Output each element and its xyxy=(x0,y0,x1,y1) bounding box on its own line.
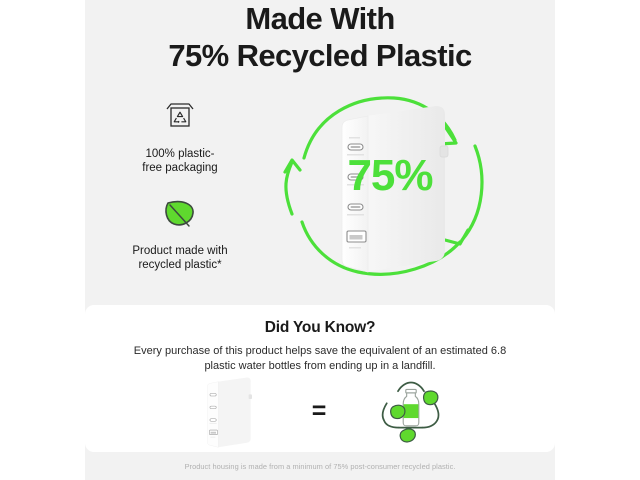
leaf-icon xyxy=(110,191,250,237)
hero-graphic: 75% xyxy=(270,84,510,292)
feature-label-line-1: Product made with xyxy=(110,244,250,258)
feature-list: 100% plastic- free packaging Product mad… xyxy=(110,94,250,288)
recycled-percentage: 75% xyxy=(270,154,510,198)
card-body: Every purchase of this product helps sav… xyxy=(120,344,520,374)
card-body-line-2: plastic water bottles from ending up in … xyxy=(120,359,520,374)
equivalence-illustration: = xyxy=(85,373,555,451)
did-you-know-card: Did You Know? Every purchase of this pro… xyxy=(85,305,555,452)
feature-label: Product made with recycled plastic* xyxy=(110,244,250,272)
feature-label-line-2: recycled plastic* xyxy=(110,258,250,272)
feature-recycled-plastic: Product made with recycled plastic* xyxy=(110,191,250,272)
equation-right xyxy=(372,377,450,447)
power-adapter-icon xyxy=(190,375,266,449)
page-title: Made With 75% Recycled Plastic xyxy=(85,0,555,74)
recycling-box-icon xyxy=(110,94,250,140)
recycled-bottle-icon xyxy=(372,377,450,447)
card-title: Did You Know? xyxy=(85,319,555,337)
hero-section: 100% plastic- free packaging Product mad… xyxy=(85,84,555,294)
feature-label-line-1: 100% plastic- xyxy=(110,147,250,161)
headline-line-1: Made With xyxy=(85,0,555,37)
feature-label: 100% plastic- free packaging xyxy=(110,147,250,175)
equation-left xyxy=(190,375,266,449)
equals-sign: = xyxy=(312,399,327,424)
feature-label-line-2: free packaging xyxy=(110,161,250,175)
feature-plastic-free-packaging: 100% plastic- free packaging xyxy=(110,94,250,175)
footnote-disclaimer: Product housing is made from a minimum o… xyxy=(85,462,555,471)
headline-line-2: 75% Recycled Plastic xyxy=(85,37,555,74)
card-body-line-1: Every purchase of this product helps sav… xyxy=(120,344,520,359)
infographic-page: Made With 75% Recycled Plastic xyxy=(0,0,640,480)
